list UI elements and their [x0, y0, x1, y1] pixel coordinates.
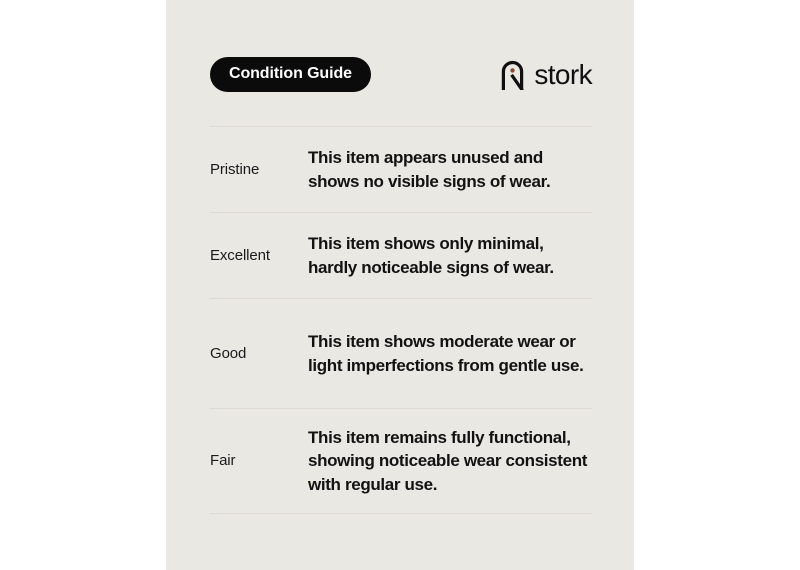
condition-guide-table: Pristine This item appears unused and sh… — [210, 126, 592, 514]
condition-description: This item remains fully functional, show… — [308, 426, 592, 496]
card-header: Condition Guide stork — [210, 56, 592, 92]
table-row: Good This item shows moderate wear or li… — [210, 298, 592, 408]
condition-guide-card: Condition Guide stork Pristine This item… — [166, 0, 634, 570]
condition-name: Fair — [210, 452, 308, 470]
stork-logo-icon — [500, 59, 525, 90]
condition-description: This item shows only minimal, hardly not… — [308, 232, 592, 279]
screenshot-stage: Condition Guide stork Pristine This item… — [0, 0, 800, 570]
condition-name: Excellent — [210, 247, 308, 265]
table-row: Excellent This item shows only minimal, … — [210, 212, 592, 298]
table-row: Pristine This item appears unused and sh… — [210, 126, 592, 212]
condition-name: Pristine — [210, 161, 308, 179]
condition-guide-badge: Condition Guide — [210, 57, 371, 92]
condition-description: This item shows moderate wear or light i… — [308, 330, 592, 377]
brand-wordmark: stork — [534, 61, 592, 89]
condition-description: This item appears unused and shows no vi… — [308, 146, 592, 193]
table-row: Fair This item remains fully functional,… — [210, 408, 592, 514]
brand-lockup: stork — [500, 59, 592, 90]
condition-name: Good — [210, 345, 308, 363]
